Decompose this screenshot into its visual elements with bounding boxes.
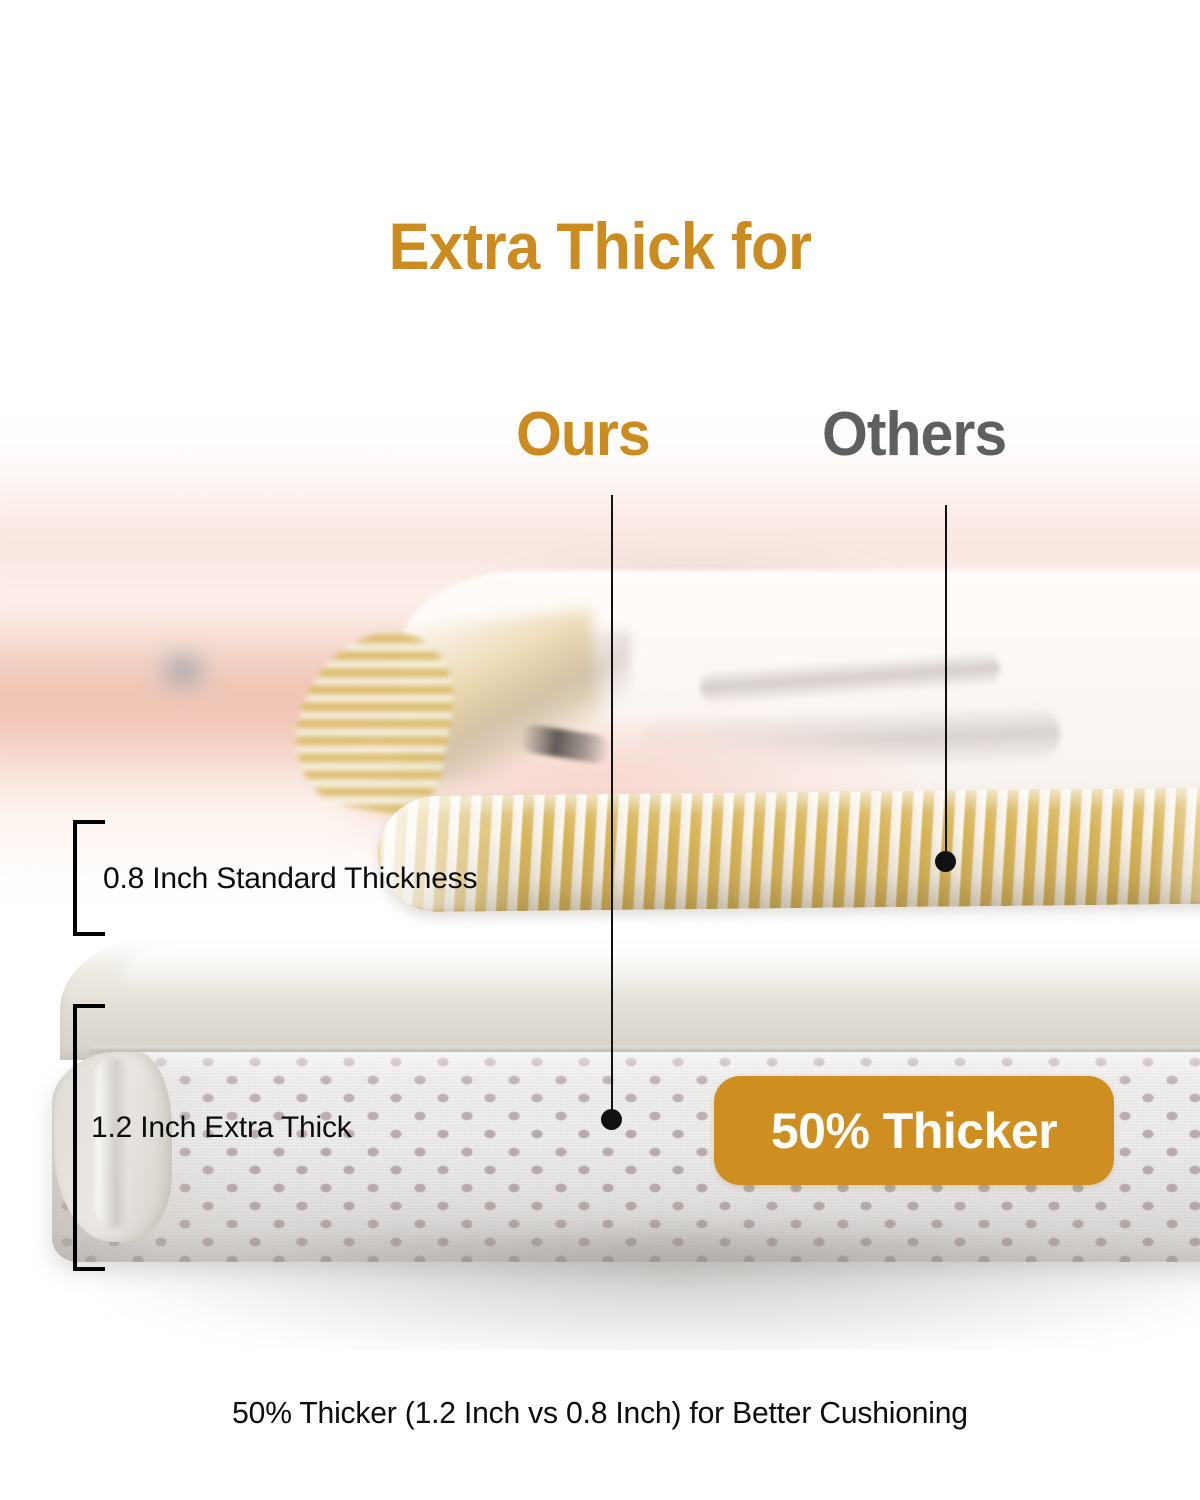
ours-mat-top-sheen (120, 942, 1200, 988)
photo-background-chip (152, 645, 214, 697)
others-mat-striped-piping (377, 788, 1200, 913)
status-badge: 50% Thicker (714, 1076, 1114, 1185)
ours-mat-drop-shadow (100, 1230, 1200, 1350)
status-badge-text: 50% Thicker (771, 1102, 1057, 1160)
ours-leader-line (611, 495, 613, 1120)
piping-right-fade (1147, 788, 1200, 905)
footer-caption: 50% Thicker (1.2 Inch vs 0.8 Inch) for B… (18, 1394, 1182, 1432)
others-leader-endpoint (935, 851, 956, 872)
product-photo (0, 330, 1200, 1350)
extra-thickness-label: 1.2 Inch Extra Thick (91, 1111, 352, 1145)
standard-thickness-bracket (73, 820, 105, 936)
label-ours: Ours (516, 404, 650, 466)
others-leader-line (945, 505, 947, 860)
label-others: Others (822, 404, 1006, 466)
infographic-page: Extra Thick for Ultimate Comfort (0, 0, 1200, 1500)
page-title-line1: Extra Thick for (42, 206, 1158, 286)
ours-leader-endpoint (601, 1109, 622, 1130)
standard-thickness-label: 0.8 Inch Standard Thickness (103, 862, 477, 896)
